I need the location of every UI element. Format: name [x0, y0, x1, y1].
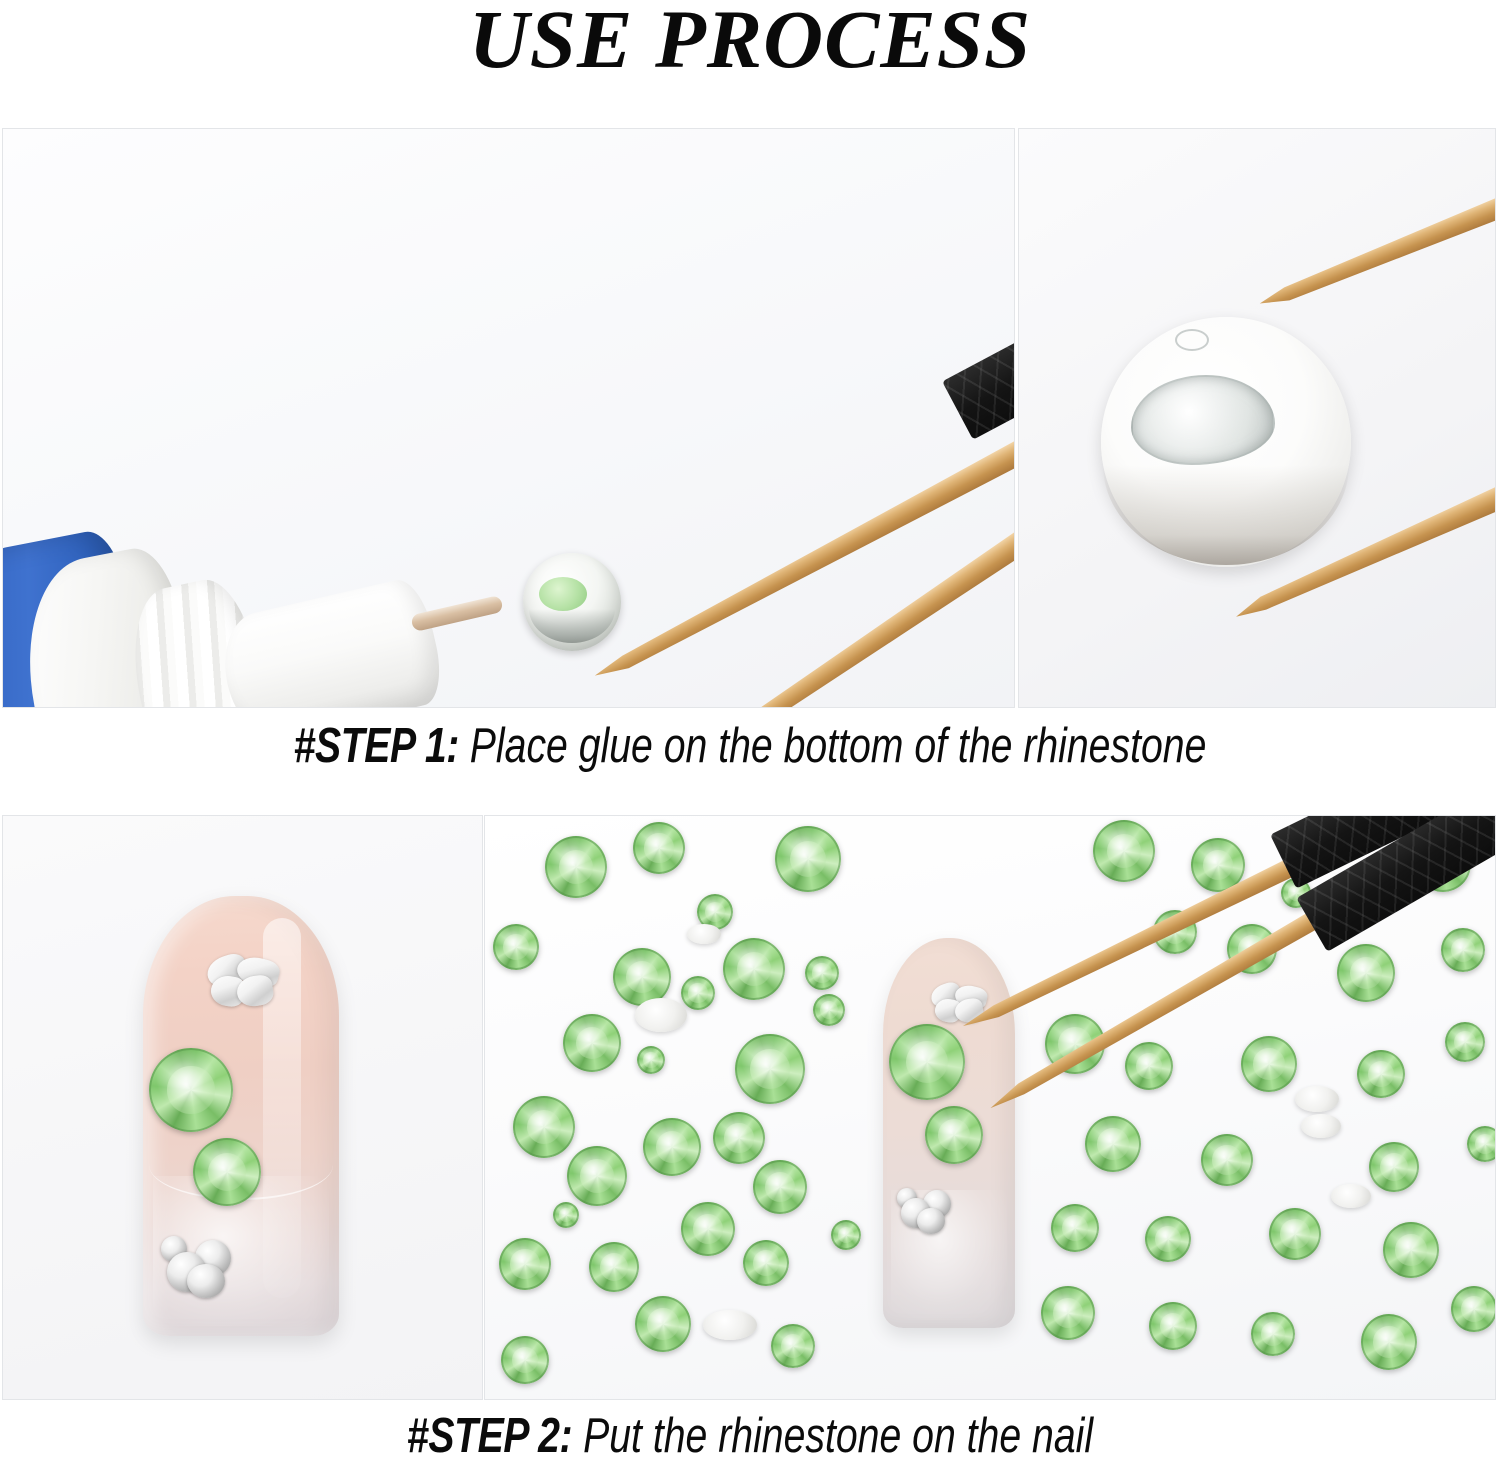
- glue-drop: [539, 577, 587, 611]
- green-rhinestone-large: [149, 1048, 233, 1132]
- scatter-gem: [513, 1096, 575, 1158]
- scatter-gem: [805, 956, 839, 990]
- scatter-gem: [1467, 1126, 1496, 1162]
- scatter-gem: [723, 938, 785, 1000]
- rhinestone-back-disc: [703, 1310, 757, 1340]
- scatter-gem: [771, 1324, 815, 1368]
- glue-bottle-nozzle: [213, 575, 448, 708]
- scatter-gem: [743, 1240, 789, 1286]
- scatter-gem: [493, 924, 539, 970]
- rhinestone-back-disc: [1295, 1086, 1339, 1112]
- rhinestone-back-disc: [1331, 1184, 1371, 1208]
- scatter-gem: [635, 1296, 691, 1352]
- rhinestone-back-disc: [635, 998, 687, 1032]
- step1-panel-glue-application: [2, 128, 1015, 708]
- rhinestone-flat-back: [1101, 317, 1351, 567]
- scatter-gem: [1251, 1312, 1295, 1356]
- scatter-gem: [553, 1202, 579, 1228]
- scatter-gem: [753, 1160, 807, 1214]
- scatter-gem: [735, 1034, 805, 1104]
- scatter-gem: [831, 1220, 861, 1250]
- scatter-gem: [499, 1238, 551, 1290]
- scatter-gem: [681, 1202, 735, 1256]
- scatter-gem: [501, 1336, 549, 1384]
- scatter-gem: [567, 1146, 627, 1206]
- scatter-gem: [1451, 1286, 1496, 1332]
- step1-label: #STEP 1:: [294, 719, 459, 773]
- step2-panel-finished-nail: [2, 815, 483, 1400]
- rhinestone-back-disc: [687, 924, 721, 944]
- scatter-gem: [1357, 1050, 1405, 1098]
- scatter-gem: [1051, 1204, 1099, 1252]
- use-process-infographic: USE PROCESS #STEP 1: Place: [0, 0, 1500, 1466]
- scatter-gem: [1041, 1286, 1095, 1340]
- scatter-gem: [633, 822, 685, 874]
- green-rhinestone-medium: [925, 1106, 983, 1164]
- rhinestone-back-disc: [1301, 1114, 1341, 1138]
- scatter-gem: [1269, 1208, 1321, 1260]
- step1-text: Place glue on the bottom of the rhinesto…: [459, 719, 1206, 773]
- scatter-gem: [545, 836, 607, 898]
- rhinestone-rim: [529, 609, 615, 643]
- scatter-gem: [775, 826, 841, 892]
- scatter-gem: [589, 1242, 639, 1292]
- glue-bottle: [2, 521, 483, 708]
- scatter-gem: [1361, 1314, 1417, 1370]
- glue-smear: [1131, 375, 1275, 465]
- scatter-gem: [1085, 1116, 1141, 1172]
- butterfly-charm-icon: [207, 956, 279, 1008]
- scatter-gem: [1125, 1042, 1173, 1090]
- scatter-gem: [1337, 944, 1395, 1002]
- green-rhinestone-large: [889, 1024, 965, 1100]
- step2-caption: #STEP 2: Put the rhinestone on the nail: [150, 1408, 1350, 1464]
- step1-panel-rhinestone-back: [1018, 128, 1496, 708]
- step2-label: #STEP 2:: [407, 1409, 572, 1463]
- silver-cluster-charm: [161, 1230, 245, 1302]
- step2-text: Put the rhinestone on the nail: [572, 1409, 1093, 1463]
- scatter-gem: [1149, 1302, 1197, 1350]
- step1-caption: #STEP 1: Place glue on the bottom of the…: [150, 718, 1350, 774]
- scatter-gem: [1241, 1036, 1297, 1092]
- rhinestone-with-glue: [523, 553, 621, 651]
- scatter-gem: [813, 994, 845, 1026]
- scatter-gem: [643, 1118, 701, 1176]
- page-title: USE PROCESS: [0, 0, 1500, 84]
- scatter-gem: [1201, 1134, 1253, 1186]
- scatter-gem: [1093, 820, 1155, 882]
- scatter-gem: [1383, 1222, 1439, 1278]
- scatter-gem: [1445, 1022, 1485, 1062]
- silver-cluster-charm: [897, 1182, 961, 1236]
- scatter-gem: [563, 1014, 621, 1072]
- scatter-gem: [1145, 1216, 1191, 1262]
- scatter-gem: [637, 1046, 665, 1074]
- scatter-gem: [1441, 928, 1485, 972]
- step2-panel-applying-rhinestone: [484, 815, 1496, 1400]
- scatter-gem: [1369, 1142, 1419, 1192]
- green-rhinestone-medium: [193, 1138, 261, 1206]
- scatter-gem: [681, 976, 715, 1010]
- scatter-gem: [713, 1112, 765, 1164]
- glue-bubble: [1175, 329, 1209, 351]
